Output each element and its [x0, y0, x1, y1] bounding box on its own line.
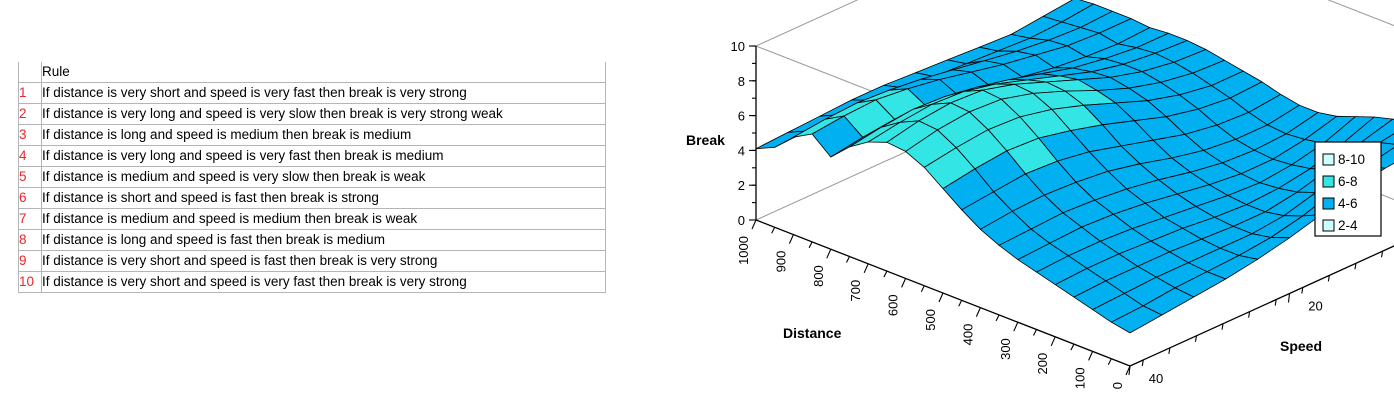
table-row[interactable]: 5If distance is medium and speed is very…	[19, 167, 606, 188]
table-row[interactable]: 6If distance is short and speed is fast …	[19, 188, 606, 209]
table-row[interactable]: 1If distance is very short and speed is …	[19, 83, 606, 104]
z-tick-label: 6	[738, 109, 745, 124]
rule-text: If distance is very long and speed is ve…	[42, 104, 606, 125]
legend-swatch	[1323, 154, 1334, 165]
legend-label: 4-6	[1338, 196, 1358, 211]
axis-title-distance: Distance	[783, 325, 842, 341]
surface-chart-container: 0246810100090080070060050040030020010000…	[620, 0, 1394, 407]
y-tick-label: 20	[1308, 299, 1322, 314]
table-row[interactable]: 10If distance is very short and speed is…	[19, 272, 606, 293]
column-header-index	[19, 62, 42, 83]
rule-text: If distance is very short and speed is v…	[42, 272, 606, 293]
rule-table-container: Rule 1If distance is very short and spee…	[18, 62, 606, 293]
surface-chart-svg: 0246810100090080070060050040030020010000…	[620, 0, 1394, 407]
z-tick-label: 8	[738, 74, 745, 89]
row-index: 3	[19, 125, 42, 146]
row-index: 8	[19, 230, 42, 251]
z-tick-label: 0	[738, 213, 745, 228]
rule-table: Rule 1If distance is very short and spee…	[18, 62, 606, 293]
axis-title-speed: Speed	[1280, 338, 1322, 354]
rule-text: If distance is very short and speed is v…	[42, 83, 606, 104]
legend-label: 8-10	[1338, 152, 1365, 167]
legend-swatch	[1323, 176, 1334, 187]
x-tick-label: 1000	[736, 236, 751, 265]
x-tick-label: 100	[1073, 367, 1088, 389]
x-tick-label: 400	[960, 324, 975, 346]
row-index: 9	[19, 251, 42, 272]
row-index: 2	[19, 104, 42, 125]
rule-text: If distance is long and speed is medium …	[42, 125, 606, 146]
x-tick-label: 700	[848, 280, 863, 302]
x-tick-label: 800	[811, 265, 826, 287]
chart-legend: 8-106-84-62-4	[1315, 142, 1381, 236]
x-tick-label: 900	[773, 251, 788, 273]
row-index: 5	[19, 167, 42, 188]
table-row[interactable]: 2If distance is very long and speed is v…	[19, 104, 606, 125]
screenshot-root: Rule 1If distance is very short and spee…	[0, 0, 1394, 407]
z-tick-label: 2	[738, 178, 745, 193]
table-row[interactable]: 7If distance is medium and speed is medi…	[19, 209, 606, 230]
z-tick-label: 4	[738, 143, 745, 158]
rule-text: If distance is short and speed is fast t…	[42, 188, 606, 209]
column-header-rule: Rule	[42, 62, 606, 83]
rule-text: If distance is long and speed is fast th…	[42, 230, 606, 251]
x-tick-label: 600	[886, 294, 901, 316]
legend-swatch	[1323, 220, 1334, 231]
x-tick-label: 200	[1035, 353, 1050, 375]
table-row[interactable]: 9If distance is very short and speed is …	[19, 251, 606, 272]
row-index: 4	[19, 146, 42, 167]
legend-swatch	[1323, 198, 1334, 209]
x-tick-label: 500	[923, 309, 938, 331]
row-index: 7	[19, 209, 42, 230]
y-tick-label: 40	[1149, 371, 1163, 386]
table-row[interactable]: 8If distance is long and speed is fast t…	[19, 230, 606, 251]
rule-text: If distance is very short and speed is f…	[42, 251, 606, 272]
row-index: 10	[19, 272, 42, 293]
table-row[interactable]: 3If distance is long and speed is medium…	[19, 125, 606, 146]
table-header-row: Rule	[19, 62, 606, 83]
row-index: 6	[19, 188, 42, 209]
x-tick-label: 0	[1110, 382, 1125, 389]
rule-text: If distance is medium and speed is very …	[42, 167, 606, 188]
table-row[interactable]: 4If distance is very long and speed is v…	[19, 146, 606, 167]
rule-text: If distance is medium and speed is mediu…	[42, 209, 606, 230]
rule-text: If distance is very long and speed is ve…	[42, 146, 606, 167]
legend-label: 6-8	[1338, 174, 1358, 189]
z-tick-label: 10	[731, 39, 745, 54]
row-index: 1	[19, 83, 42, 104]
axis-title-break: Break	[686, 132, 725, 148]
legend-label: 2-4	[1338, 218, 1358, 233]
x-tick-label: 300	[998, 338, 1013, 360]
